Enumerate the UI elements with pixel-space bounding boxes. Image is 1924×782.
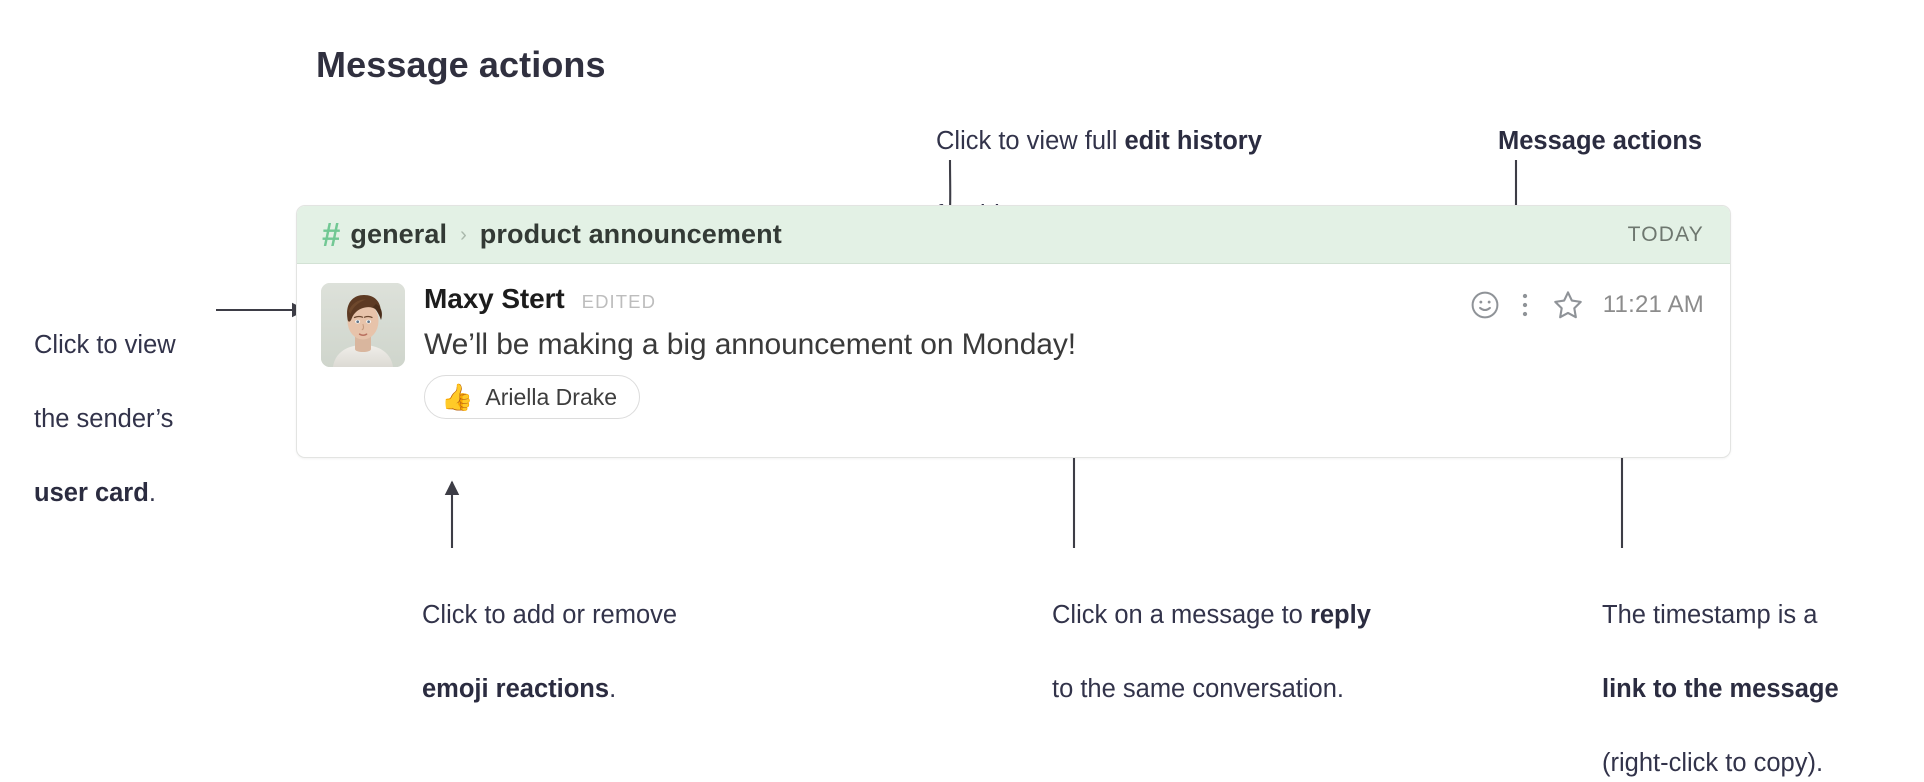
annotation-user-card-line1: Click to view: [34, 331, 176, 359]
annotation-reply-bold: reply: [1310, 601, 1371, 629]
annotation-timestamp: The timestamp is a link to the message (…: [1602, 560, 1839, 782]
annotation-user-card-bold: user card: [34, 479, 149, 507]
reaction-user-label: Ariella Drake: [485, 384, 617, 411]
hash-icon: #: [322, 218, 339, 251]
annotation-timestamp-line1: The timestamp is a: [1602, 601, 1817, 629]
annotation-timestamp-line3: (right-click to copy).: [1602, 749, 1823, 777]
annotation-user-card: Click to view the sender’s user card.: [34, 290, 176, 512]
thumbs-up-icon: 👍: [441, 384, 473, 410]
topic-name[interactable]: product announcement: [480, 219, 782, 250]
chevron-right-icon: ›: [460, 224, 467, 247]
kebab-menu-icon[interactable]: [1508, 290, 1542, 320]
annotation-emoji-period: .: [609, 675, 616, 703]
message-timestamp-link[interactable]: 11:21 AM: [1603, 291, 1704, 319]
star-icon[interactable]: [1542, 288, 1594, 322]
message-text[interactable]: We’ll be making a big announcement on Mo…: [424, 328, 1704, 362]
annotation-edit-history-bold: edit history: [1124, 127, 1261, 155]
edited-badge[interactable]: EDITED: [582, 291, 656, 313]
annotation-actions-menu-bold: Message actions: [1498, 127, 1702, 155]
reaction-row: 👍 Ariella Drake: [424, 375, 1704, 419]
annotation-user-card-period: .: [149, 479, 156, 507]
message-actions-toolbar: 11:21 AM: [1462, 288, 1704, 322]
annotation-reply-line1-pre: Click on a message to: [1052, 601, 1310, 629]
annotation-timestamp-bold: link to the message: [1602, 675, 1839, 703]
annotation-emoji-line1: Click to add or remove: [422, 601, 677, 629]
illustration-canvas: Message actions Click to view full edit …: [0, 0, 1924, 696]
message-row[interactable]: Maxy Stert EDITED We’ll be making a big …: [297, 264, 1730, 419]
stream-name[interactable]: general: [350, 219, 447, 250]
avatar[interactable]: [321, 283, 405, 367]
header-date-label: TODAY: [1628, 223, 1704, 247]
avatar-photo: [321, 283, 405, 367]
page-title: Message actions: [316, 44, 606, 86]
card-header: # general › product announcement TODAY: [297, 206, 1730, 264]
annotation-reply-line2: to the same conversation.: [1052, 675, 1344, 703]
sender-name[interactable]: Maxy Stert: [424, 283, 565, 315]
annotation-reply: Click on a message to reply to the same …: [1052, 560, 1371, 708]
message-card: # general › product announcement TODAY: [296, 205, 1731, 458]
annotation-emoji-reactions: Click to add or remove emoji reactions.: [422, 560, 677, 708]
annotation-emoji-bold: emoji reactions: [422, 675, 609, 703]
annotation-edit-history-line1-pre: Click to view full: [936, 127, 1124, 155]
annotation-user-card-line2: the sender’s: [34, 405, 173, 433]
reaction-pill[interactable]: 👍 Ariella Drake: [424, 375, 640, 419]
emoji-picker-icon[interactable]: [1462, 289, 1508, 321]
